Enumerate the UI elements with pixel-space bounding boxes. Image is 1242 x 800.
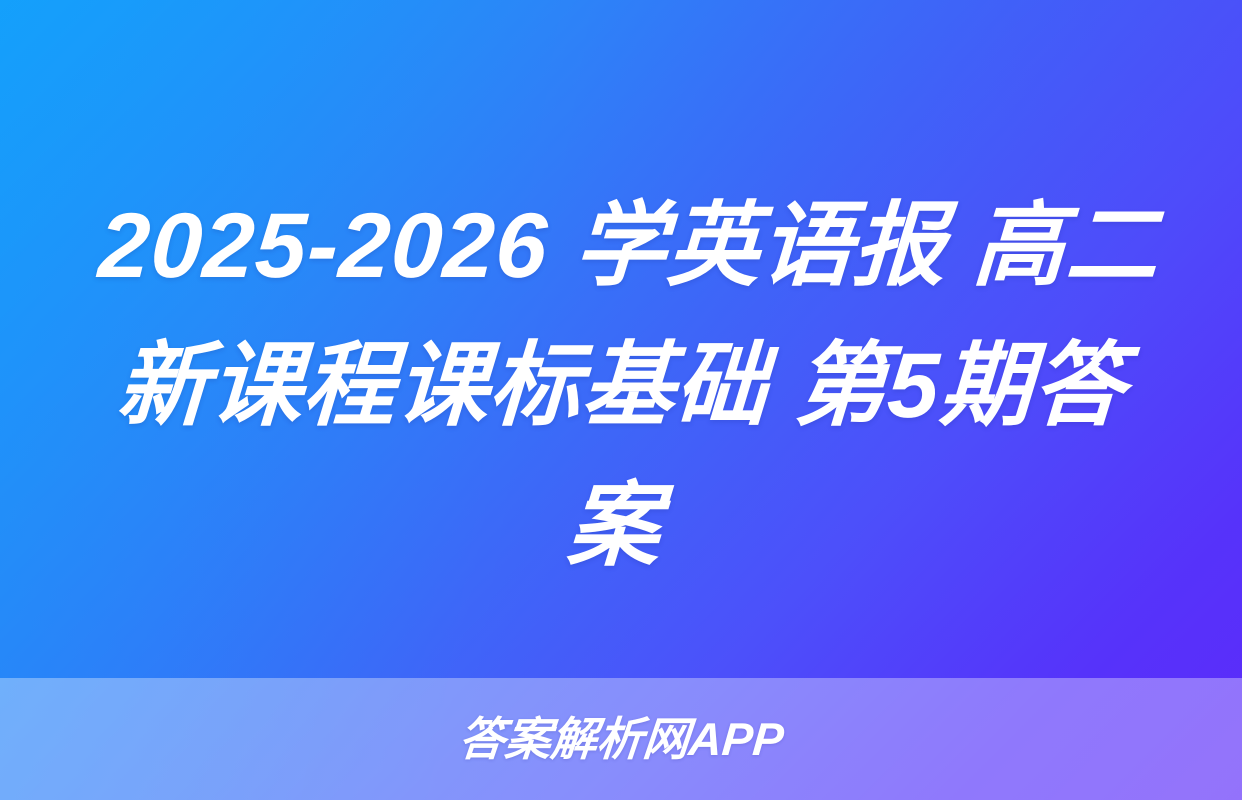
footer-watermark-band: 答案解析网APP: [0, 678, 1242, 800]
answer-cover-card: 2025-2026 学英语报 高二 新课程课标基础 第5期答案 答案解析网APP: [0, 0, 1242, 800]
page-title: 2025-2026 学英语报 高二 新课程课标基础 第5期答案: [67, 176, 1174, 596]
app-brand-watermark: 答案解析网APP: [457, 716, 786, 762]
title-area: 2025-2026 学英语报 高二 新课程课标基础 第5期答案: [0, 176, 1242, 646]
